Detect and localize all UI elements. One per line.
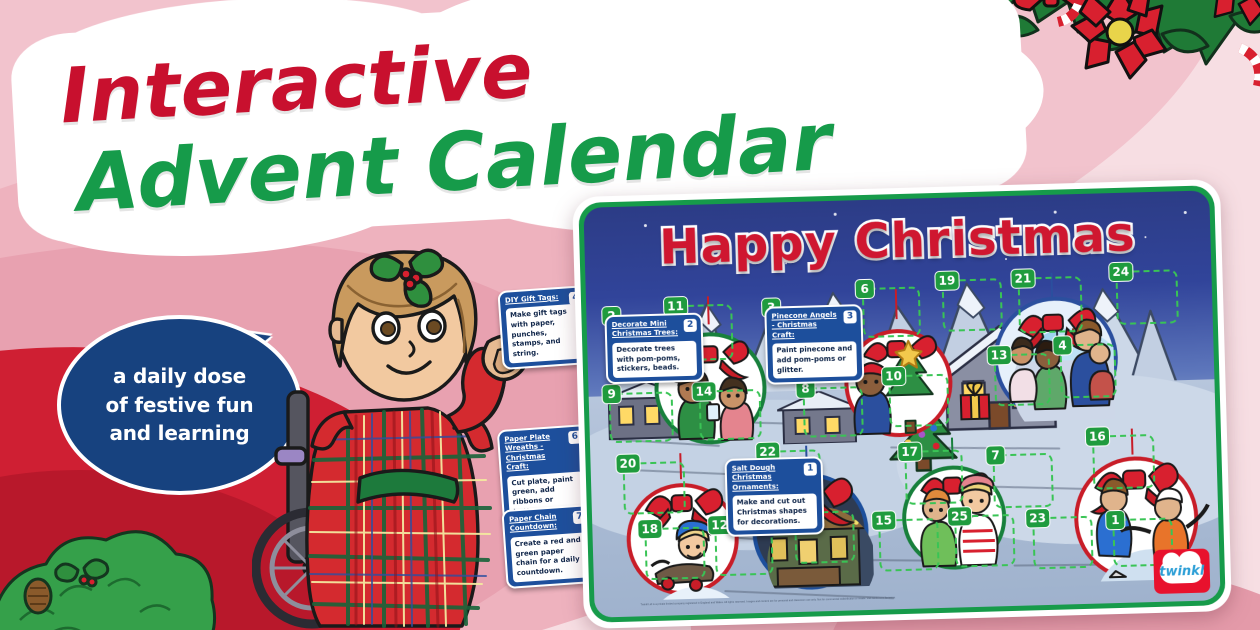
- card-body: Decorate trees with pom-poms, stickers, …: [612, 341, 697, 378]
- activity-card-2[interactable]: 2Decorate Mini Christmas Trees:Decorate …: [604, 313, 704, 385]
- advent-door-8[interactable]: 8: [803, 386, 864, 438]
- door-number-badge: 4: [1052, 335, 1073, 356]
- poster-scene: Happy Christmas 211914361921248101342022…: [583, 190, 1220, 617]
- poinsettia-icon: [1072, 0, 1166, 78]
- door-number-badge: 25: [947, 506, 972, 527]
- advent-door-17[interactable]: 17: [904, 449, 963, 505]
- advent-door-23[interactable]: 23: [1032, 516, 1093, 570]
- advent-door-18[interactable]: 18: [644, 527, 705, 581]
- advent-door-16[interactable]: 16: [1092, 434, 1155, 490]
- advent-door-7[interactable]: 7: [992, 453, 1053, 509]
- door-number-badge: 15: [871, 510, 896, 531]
- door-number-badge: 24: [1108, 261, 1133, 282]
- door-number-badge: 10: [881, 366, 906, 387]
- advent-door-19[interactable]: 19: [942, 278, 1003, 332]
- advent-doors-grid[interactable]: 2119143619212481013420221771618125152523…: [583, 190, 1220, 617]
- advent-calendar-poster[interactable]: Happy Christmas 211914361921248101342022…: [572, 179, 1232, 629]
- advent-door-13[interactable]: 13: [994, 353, 1051, 407]
- door-number-badge: 19: [934, 270, 959, 291]
- advent-door-4[interactable]: 4: [1059, 343, 1116, 399]
- door-number-badge: 20: [615, 453, 640, 474]
- advent-door-6[interactable]: 6: [862, 286, 921, 338]
- activity-card-1[interactable]: 1Salt Dough Christmas Ornaments:Make and…: [724, 456, 824, 537]
- advent-door-9[interactable]: 9: [609, 391, 674, 443]
- bush-illustration: [0, 500, 220, 630]
- advent-door-15[interactable]: 15: [878, 518, 939, 572]
- door-number-badge: 21: [1010, 268, 1035, 289]
- activity-card-3[interactable]: 3Pinecone Angels - Christmas Craft:Paint…: [764, 304, 864, 385]
- door-number-badge: 16: [1085, 426, 1110, 447]
- brand-name: twinkl: [1159, 563, 1204, 579]
- card-number-badge: 2: [684, 319, 697, 332]
- card-body: Paint pinecone and add pom-poms or glitt…: [772, 342, 857, 379]
- twinkl-logo: twinkl: [1153, 548, 1210, 594]
- advent-door-24[interactable]: 24: [1115, 269, 1178, 325]
- door-number-badge: 23: [1025, 508, 1050, 529]
- door-number-badge: 13: [986, 345, 1011, 366]
- card-body: Make gift tags with paper, punches, stam…: [506, 304, 586, 363]
- door-number-badge: 14: [691, 381, 716, 402]
- door-number-badge: 6: [854, 279, 875, 300]
- card-number-badge: 3: [843, 310, 856, 323]
- advent-door-14[interactable]: 14: [699, 389, 762, 441]
- pinecone-icon: [25, 579, 51, 613]
- door-number-badge: 17: [897, 441, 922, 462]
- advent-door-10[interactable]: 10: [888, 374, 949, 428]
- door-number-badge: 1: [1105, 510, 1126, 531]
- door-number-badge: 7: [985, 445, 1006, 466]
- door-number-badge: 9: [601, 384, 622, 405]
- advent-door-21[interactable]: 21: [1018, 276, 1084, 334]
- card-body: Create a red and green paper chain for a…: [510, 532, 589, 582]
- advent-door-25[interactable]: 25: [954, 514, 1015, 568]
- cloud-icon: twinkl: [1159, 559, 1204, 584]
- card-body: Make and cut out Christmas shapes for de…: [733, 494, 818, 531]
- door-number-badge: 18: [637, 519, 662, 540]
- tagline-text: a daily dose of festive fun and learning: [106, 362, 254, 447]
- advent-door-20[interactable]: 20: [623, 461, 686, 515]
- card-number-badge: 1: [804, 462, 817, 475]
